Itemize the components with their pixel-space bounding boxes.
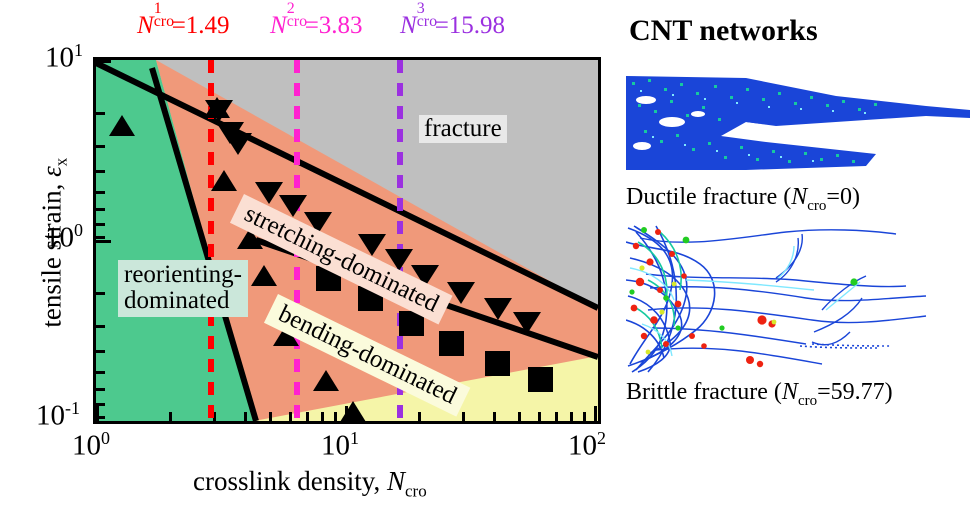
xtick-minor (244, 412, 247, 421)
x-axis-title: crosslink density, Ncro (193, 466, 427, 501)
figure-root: N1cro=1.49 N2cro=3.83 N3cro=15.98 (0, 0, 976, 515)
xtick-minor (334, 412, 337, 421)
ductile-fracture-caption: Ductile fracture (Ncro=0) (626, 184, 860, 215)
ytick-major-10e0 (96, 240, 111, 243)
thr3-value: =15.98 (435, 12, 505, 39)
thr2-sub: cro (287, 13, 307, 31)
xtick-minor (321, 412, 324, 421)
marker-tri-down (484, 298, 512, 320)
y-axis-title: tensile strain, εx (36, 93, 71, 393)
ytick-minor (96, 112, 105, 115)
plot-area: fracture reorienting- dominated stretchi… (93, 57, 601, 424)
ytick-minor (96, 170, 105, 173)
cnt-networks-panel: CNT networks (620, 0, 976, 515)
ytick-minor (96, 388, 105, 391)
xtick-minor (306, 412, 309, 421)
thr1-value: =1.49 (172, 12, 230, 39)
xtick-minor (169, 412, 172, 421)
xtick-minor (418, 412, 421, 421)
ytick-minor (96, 145, 105, 148)
brittle-fracture-caption: Brittle fracture (Ncro=59.77) (626, 379, 893, 410)
ductile-fracture-render (626, 70, 970, 175)
thr1-sub: cro (154, 13, 174, 31)
marker-tri-up (313, 370, 339, 391)
plot-overlay (96, 60, 598, 421)
xtick-label-10e0: 100 (72, 428, 110, 463)
thr3-symbol: N (400, 12, 417, 39)
ytick-minor (96, 371, 105, 374)
ytick-minor (96, 350, 105, 353)
ytick-minor (96, 191, 105, 194)
threshold-annotation-ncro-1: N1cro=1.49 (137, 8, 230, 40)
brittle-fracture-render (626, 224, 970, 374)
marker-tri-down (447, 282, 475, 304)
marker-tri-up (109, 115, 135, 136)
xtick-label-10e2: 102 (568, 428, 606, 463)
brittle-fracture-image (626, 224, 970, 374)
threshold-annotation-ncro-3: N3cro=15.98 (400, 8, 505, 40)
marker-tri-up (211, 170, 237, 191)
ytick-major-10e1 (96, 60, 111, 63)
thr2-symbol: N (270, 12, 287, 39)
xtick-minor (538, 412, 541, 421)
ytick-minor (96, 208, 105, 211)
ytick-label-10e1: 101 (45, 40, 83, 75)
ytick-minor (96, 223, 105, 226)
xtick-minor (570, 412, 573, 421)
xtick-minor (555, 412, 558, 421)
phase-map-panel: N1cro=1.49 N2cro=3.83 N3cro=15.98 (0, 0, 620, 515)
xtick-minor (289, 412, 292, 421)
xtick-major-10e0 (96, 406, 99, 421)
xtick-minor (493, 412, 496, 421)
xtick-minor (462, 412, 465, 421)
marker-tri-up (251, 265, 277, 286)
xtick-minor (269, 412, 272, 421)
thr2-value: =3.83 (305, 12, 363, 39)
region-label-reorienting: reorienting- dominated (118, 260, 248, 317)
ytick-minor (96, 236, 105, 239)
marker-square (485, 351, 510, 376)
marker-tri-up (340, 401, 366, 422)
xtick-major-10e2 (594, 406, 597, 421)
threshold-annotation-ncro-2: N2cro=3.83 (270, 8, 363, 40)
region-label-reorienting-line2: dominated (124, 288, 242, 314)
marker-square (439, 331, 464, 356)
marker-tri-down (224, 133, 252, 155)
marker-tri-up (204, 97, 230, 118)
marker-tri-down (513, 312, 541, 334)
xtick-label-10e1: 101 (321, 428, 359, 463)
region-label-reorienting-line1: reorienting- (124, 262, 242, 288)
ytick-minor (96, 292, 105, 295)
xtick-minor (518, 412, 521, 421)
marker-square (528, 367, 553, 392)
ductile-fracture-image (626, 70, 970, 175)
xtick-minor (583, 412, 586, 421)
thr1-symbol: N (137, 12, 154, 39)
ytick-minor (96, 325, 105, 328)
cnt-networks-title: CNT networks (629, 14, 818, 48)
thr3-sub: cro (417, 13, 437, 31)
region-label-fracture: fracture (419, 115, 507, 143)
